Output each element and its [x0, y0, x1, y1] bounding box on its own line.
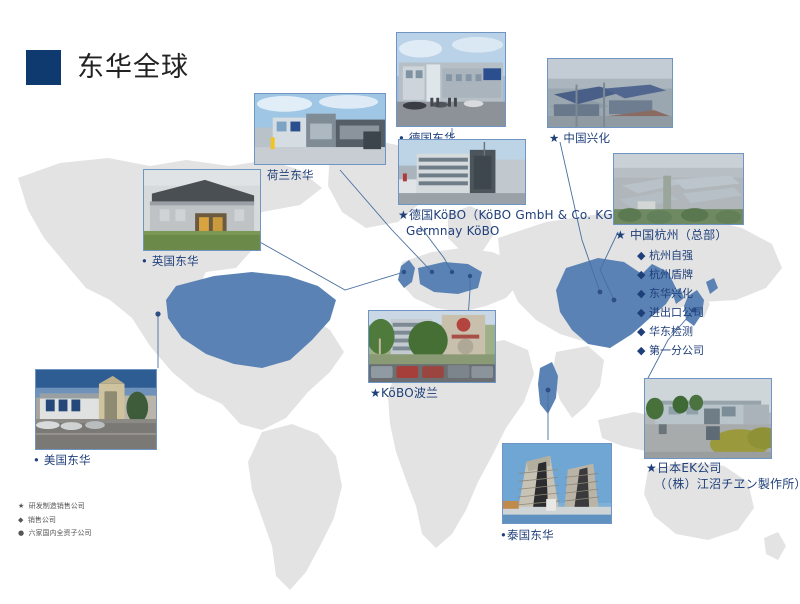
photo-usa-donghua[interactable] [35, 369, 157, 450]
page-title: 东华全球 [26, 50, 189, 85]
label-china-hangzhou: ★ 中国杭州（总部） [615, 228, 728, 244]
photo-japan-ek[interactable] [644, 378, 772, 459]
title-accent-square [26, 50, 61, 85]
label-japan-ek: ★日本EK公司 （（株）江沼チヱン製作所） [646, 461, 800, 493]
subsidiary-item: ◆ 进出口公司 [637, 304, 704, 323]
legend-item-rd: ★ 研发制造销售公司 [18, 500, 92, 514]
photo-uk-donghua[interactable] [143, 169, 261, 251]
label-kobo-poland: ★KöBO波兰 [370, 386, 438, 402]
subsidiary-item: ◆ 杭州盾牌 [637, 266, 704, 285]
subsidiary-item: ◆ 杭州自强 [637, 247, 704, 266]
subsidiary-item: ◆ 华东检测 [637, 323, 704, 342]
photo-germany-donghua[interactable] [396, 32, 506, 127]
label-thailand-donghua: •泰国东华 [500, 528, 554, 543]
title-label: 东华全球 [77, 54, 189, 81]
hangzhou-subsidiary-list: ◆ 杭州自强 ◆ 杭州盾牌 ◆ 东华兴化 ◆ 进出口公司 ◆ 华东检测 ◆ 第一… [637, 247, 704, 360]
legend-item-subsidiaries: ● 六家国内全资子公司 [18, 527, 92, 541]
photo-netherlands-donghua[interactable] [254, 93, 386, 165]
label-usa-donghua: • 美国东华 [33, 453, 91, 468]
label-netherlands-donghua: • 荷兰东华 [256, 168, 314, 183]
photo-germany-kobo[interactable] [398, 139, 526, 205]
legend-item-sales: ◆ 销售公司 [18, 514, 92, 528]
photo-thailand-donghua[interactable] [502, 443, 612, 524]
subsidiary-item: ◆ 东华兴化 [637, 285, 704, 304]
label-uk-donghua: • 英国东华 [141, 254, 199, 269]
photo-kobo-poland[interactable] [368, 310, 496, 383]
photo-china-xinghua[interactable] [547, 58, 673, 128]
subsidiary-item: ◆ 第一分公司 [637, 342, 704, 361]
slide-canvas: 东华全球 • 德国东华 [0, 0, 800, 604]
photo-china-hangzhou[interactable] [613, 153, 744, 225]
label-china-xinghua: ★ 中国兴化 [549, 131, 610, 146]
label-germany-kobo: ★德国KöBO（KöBO GmbH & Co. KG） Germnay KöBO [398, 208, 625, 240]
legend: ★ 研发制造销售公司 ◆ 销售公司 ● 六家国内全资子公司 [18, 500, 92, 541]
